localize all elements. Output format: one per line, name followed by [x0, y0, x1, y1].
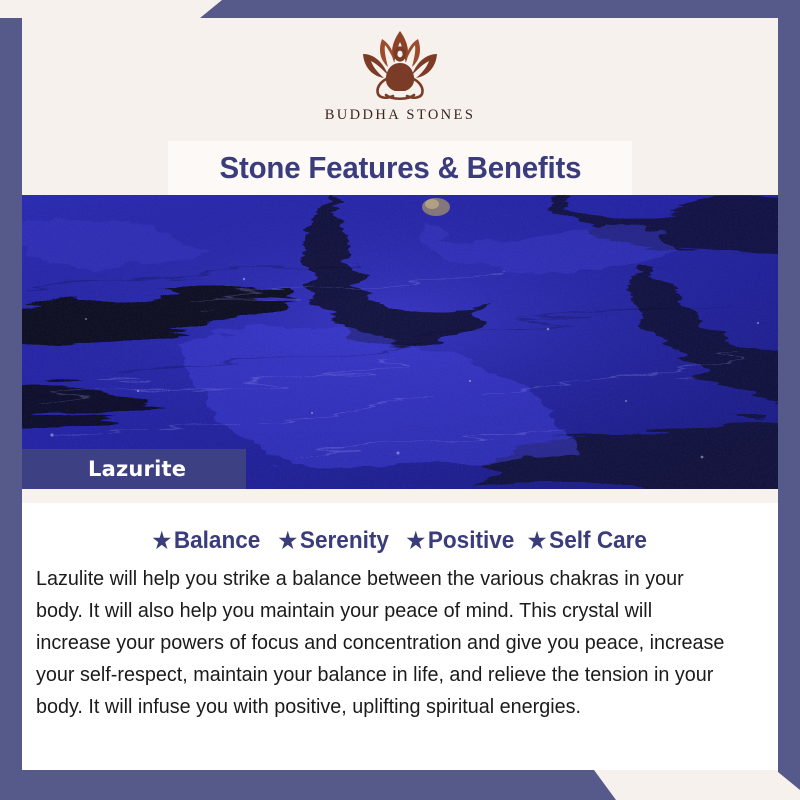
brand-name: BUDDHA STONES — [325, 107, 476, 124]
keyword-label: Self Care — [549, 527, 647, 554]
star-icon: ★ — [278, 528, 297, 553]
bottom-navy-band — [0, 770, 800, 800]
brand-logo: BUDDHA STONES — [310, 26, 490, 126]
poster-canvas: BUDDHA STONES Stone Features & Benefits — [0, 0, 800, 800]
stone-description: Lazulite will help you strike a balance … — [36, 563, 731, 723]
title-plate: Stone Features & Benefits — [168, 141, 632, 195]
keyword-label: Serenity — [300, 527, 389, 554]
stone-photo — [0, 195, 800, 489]
keyword-item-serenity: ★Serenity — [278, 527, 388, 555]
keyword-item-positive: ★Positive — [407, 527, 515, 555]
star-icon: ★ — [153, 528, 172, 553]
right-navy-edge — [778, 18, 800, 790]
top-navy-band — [0, 0, 800, 18]
keyword-label: Balance — [174, 527, 261, 554]
keyword-item-balance: ★Balance — [153, 527, 261, 555]
star-icon: ★ — [407, 528, 426, 553]
lotus-meditation-icon — [340, 26, 460, 104]
star-icon: ★ — [528, 528, 547, 553]
page-title: Stone Features & Benefits — [219, 150, 581, 186]
stone-name-banner: Lazurite — [22, 449, 246, 489]
keyword-label: Positive — [428, 527, 515, 554]
left-navy-edge — [0, 18, 22, 778]
card-top-tint — [22, 489, 778, 503]
keyword-list: ★Balance★Serenity★Positive★Self Care — [22, 527, 778, 555]
stone-name-label: Lazurite — [88, 457, 186, 481]
keyword-item-self-care: ★Self Care — [528, 527, 647, 555]
content-card: ★Balance★Serenity★Positive★Self Care Laz… — [22, 489, 778, 770]
